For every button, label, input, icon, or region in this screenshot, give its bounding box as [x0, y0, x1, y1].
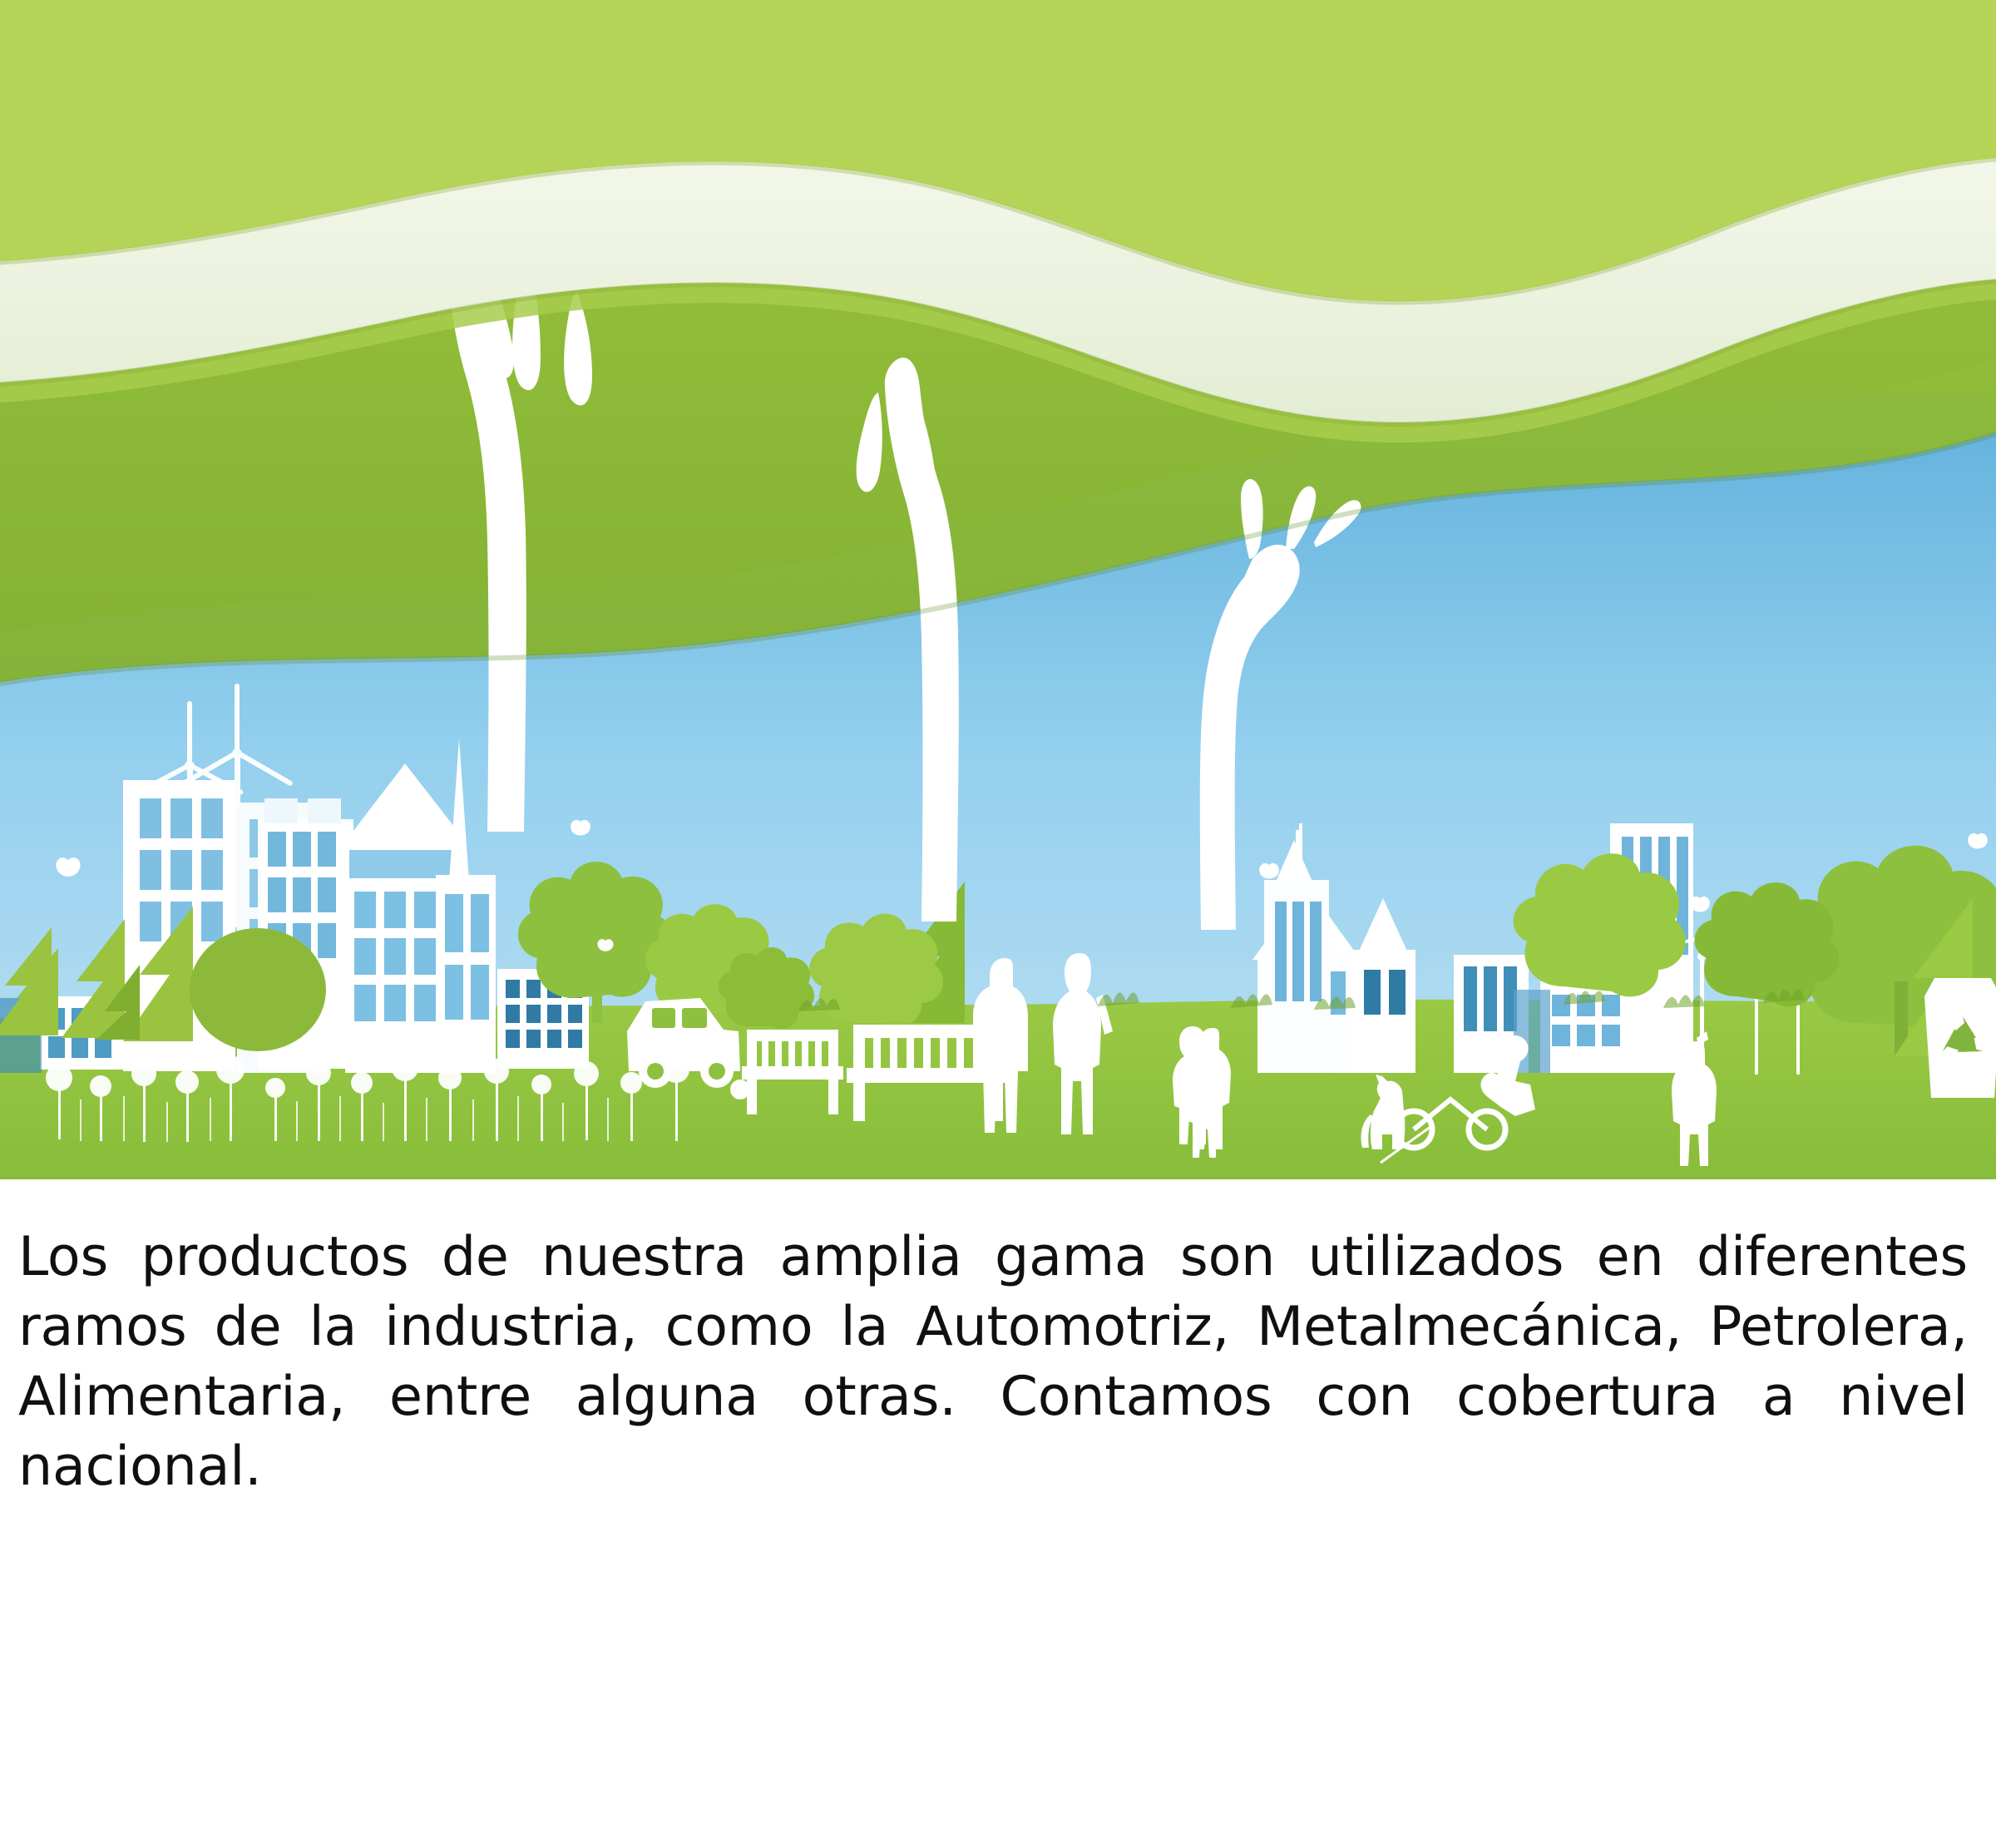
caption-paragraph: Los productos de nuestra amplia gama son… — [18, 1223, 1968, 1572]
caption-block: Los productos de nuestra amplia gama son… — [0, 1179, 1996, 1605]
round-tree — [190, 928, 326, 1051]
recycling-bin — [1924, 978, 1996, 1098]
page-root: Los productos de nuestra amplia gama son… — [0, 0, 1996, 1848]
eco-city-paper-cut-illustration — [0, 0, 1996, 1179]
